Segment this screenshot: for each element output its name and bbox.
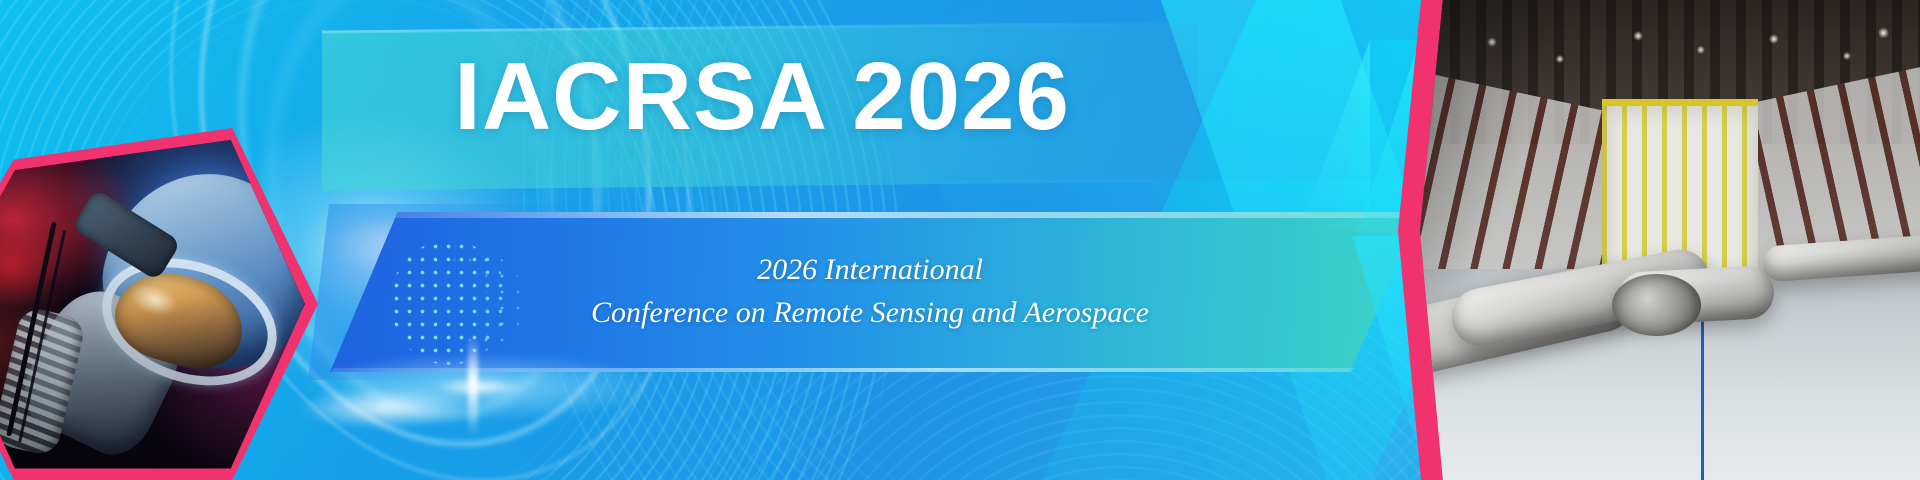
conference-banner: IACRSA 2026 2026 International Conferenc… (0, 0, 1920, 480)
subtitle: 2026 International Conference on Remote … (420, 222, 1320, 362)
subtitle-line-1: 2026 International (757, 249, 983, 292)
right-chevron-photo (1398, 0, 1920, 480)
subtitle-band-top-edge (330, 212, 1420, 218)
subtitle-line-2: Conference on Remote Sensing and Aerospa… (591, 292, 1149, 335)
rocket-hangar-image (1398, 0, 1920, 480)
light-flare-secondary (300, 388, 470, 428)
page-title: IACRSA 2026 (312, 42, 1212, 152)
right-photo-inner (1398, 0, 1920, 480)
right-photo-shading (1398, 0, 1920, 480)
